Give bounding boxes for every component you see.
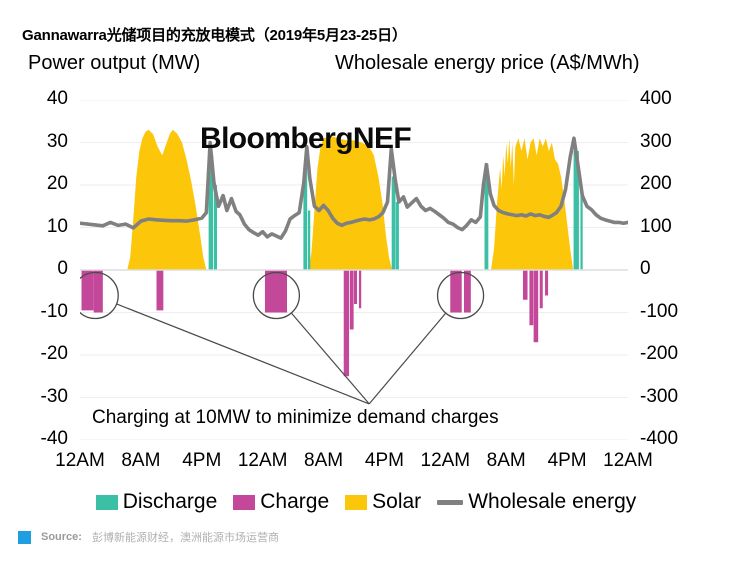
legend-label: Solar	[372, 490, 421, 514]
x-axis-tick: 12AM	[410, 450, 480, 472]
source-text: 彭博新能源财经，澳洲能源市场运营商	[92, 529, 279, 545]
legend-item[interactable]: Wholesale energy	[437, 490, 636, 514]
legend-label: Wholesale energy	[468, 490, 636, 514]
x-axis-tick: 12AM	[228, 450, 298, 472]
legend-swatch-square	[345, 495, 367, 510]
y-axis-tick-left: -40	[8, 428, 68, 450]
annotation-label: Charging at 10MW to minimize demand char…	[92, 407, 499, 429]
chart-legend: DischargeChargeSolarWholesale energy	[0, 490, 732, 514]
y-axis-tick-left: -20	[8, 343, 68, 365]
y-axis-tick-left: -10	[8, 301, 68, 323]
y-axis-tick-left: 20	[8, 173, 68, 195]
watermark: BloombergNEF	[200, 122, 411, 156]
y-axis-tick-right: 0	[640, 258, 710, 280]
source-marker-icon	[18, 531, 31, 544]
x-axis-tick: 4PM	[167, 450, 237, 472]
y-axis-tick-right: -300	[640, 386, 710, 408]
y-axis-tick-right: 100	[640, 216, 710, 238]
source-label: Source:	[41, 531, 82, 543]
y-axis-tick-right: -100	[640, 301, 710, 323]
y-axis-tick-left: 40	[8, 88, 68, 110]
legend-swatch-line	[437, 500, 463, 505]
x-axis-tick: 4PM	[349, 450, 419, 472]
legend-item[interactable]: Charge	[233, 490, 329, 514]
x-axis-tick: 8AM	[106, 450, 176, 472]
y-axis-tick-left: 10	[8, 216, 68, 238]
x-axis-tick: 8AM	[289, 450, 359, 472]
y-axis-tick-right: 400	[640, 88, 710, 110]
legend-item[interactable]: Discharge	[96, 490, 218, 514]
y-axis-tick-left: -30	[8, 386, 68, 408]
y-axis-tick-right: 200	[640, 173, 710, 195]
legend-label: Discharge	[123, 490, 218, 514]
legend-item[interactable]: Solar	[345, 490, 421, 514]
y-axis-tick-left: 30	[8, 131, 68, 153]
legend-label: Charge	[260, 490, 329, 514]
series-charge	[82, 270, 549, 376]
source-row: Source: 彭博新能源财经，澳洲能源市场运营商	[18, 529, 279, 545]
left-axis-title: Power output (MW)	[28, 52, 200, 75]
chart-figure: Gannawarra光储项目的充放电模式（2019年5月23-25日） Powe…	[0, 0, 732, 576]
right-axis-title: Wholesale energy price (A$/MWh)	[335, 52, 640, 75]
legend-swatch-square	[96, 495, 118, 510]
y-axis-tick-right: -400	[640, 428, 710, 450]
chart-title: Gannawarra光储项目的充放电模式（2019年5月23-25日）	[22, 24, 407, 45]
y-axis-tick-left: 0	[8, 258, 68, 280]
x-axis-tick: 12AM	[593, 450, 663, 472]
y-axis-tick-right: 300	[640, 131, 710, 153]
legend-swatch-square	[233, 495, 255, 510]
x-axis-tick: 8AM	[471, 450, 541, 472]
x-axis-tick: 12AM	[45, 450, 115, 472]
x-axis-tick: 4PM	[532, 450, 602, 472]
y-axis-tick-right: -200	[640, 343, 710, 365]
